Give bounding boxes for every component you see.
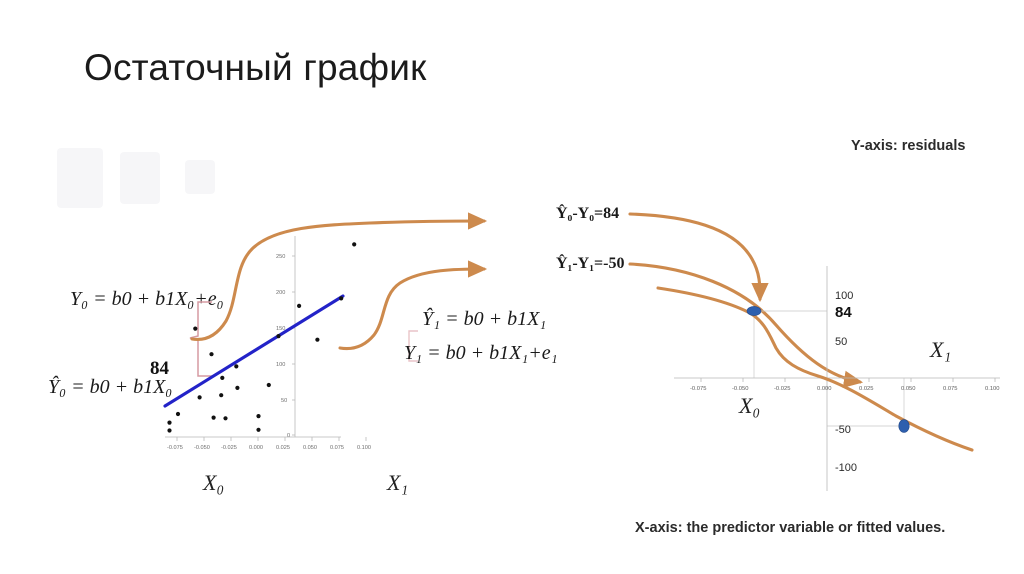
svg-text:0.050: 0.050 <box>901 386 916 392</box>
svg-text:100: 100 <box>835 290 853 302</box>
svg-text:0.000: 0.000 <box>817 386 832 392</box>
svg-text:0.025: 0.025 <box>276 445 290 451</box>
svg-text:-0.075: -0.075 <box>167 445 183 451</box>
svg-text:-0.075: -0.075 <box>690 386 706 392</box>
page-artifact <box>57 148 103 208</box>
svg-text:0.025: 0.025 <box>859 386 874 392</box>
residual-dot-neg50 <box>899 420 909 433</box>
page-artifact <box>120 152 160 204</box>
svg-text:50: 50 <box>281 398 287 404</box>
svg-text:0.075: 0.075 <box>943 386 958 392</box>
svg-text:-0.025: -0.025 <box>774 386 790 392</box>
axis-label-x1-left: X₁ <box>387 470 408 496</box>
svg-text:0.050: 0.050 <box>303 445 317 451</box>
svg-text:0: 0 <box>287 433 290 439</box>
residual-trend-curve <box>658 288 972 450</box>
svg-text:0.100: 0.100 <box>357 445 371 451</box>
axis-label-x0-right: X₀ <box>739 393 760 419</box>
x-tick-group-right: -0.075 -0.050 -0.025 0.000 0.025 0.050 0… <box>690 378 1000 392</box>
arrow-label-residual1: Ŷ₁-Y₁=-50 <box>556 255 624 273</box>
curve-arrow-residual0 <box>192 221 484 339</box>
svg-text:-50: -50 <box>835 424 851 436</box>
curve-arrow-group-left <box>190 195 550 355</box>
svg-text:0.075: 0.075 <box>330 445 344 451</box>
svg-text:-0.025: -0.025 <box>221 445 237 451</box>
svg-text:-100: -100 <box>835 462 857 474</box>
axis-label-x0-left: X₀ <box>203 470 224 496</box>
arrow-label-residual0: Ŷ₀-Y₀=84 <box>556 205 619 223</box>
residual-plot-chart: -0.075 -0.050 -0.025 0.000 0.025 0.050 0… <box>672 266 1002 491</box>
slide-canvas: Остаточный график Y₀ = b0 + b1X₀+e₀ Ŷ₀ =… <box>0 0 1024 574</box>
svg-text:0.000: 0.000 <box>249 445 263 451</box>
svg-text:100: 100 <box>276 362 285 368</box>
svg-text:-0.050: -0.050 <box>732 386 748 392</box>
x-tick-group: -0.075 -0.050 -0.025 0.000 0.025 0.050 0… <box>167 437 371 451</box>
page-title: Остаточный график <box>84 47 426 89</box>
svg-text:50: 50 <box>835 336 847 348</box>
curve-arrow-residual1 <box>340 269 484 349</box>
svg-text:84: 84 <box>835 304 852 321</box>
residual-dot-84 <box>747 306 761 315</box>
axis-label-x1-right: X₁ <box>930 337 951 363</box>
svg-text:0.100: 0.100 <box>985 386 1000 392</box>
caption-y-axis: Y-axis: residuals <box>851 138 965 154</box>
page-artifact <box>185 160 215 194</box>
caption-x-axis: X-axis: the predictor variable or fitted… <box>635 520 945 536</box>
svg-text:-0.050: -0.050 <box>194 445 210 451</box>
y-label-group-right: 100 84 50 -50 -100 <box>835 290 857 474</box>
